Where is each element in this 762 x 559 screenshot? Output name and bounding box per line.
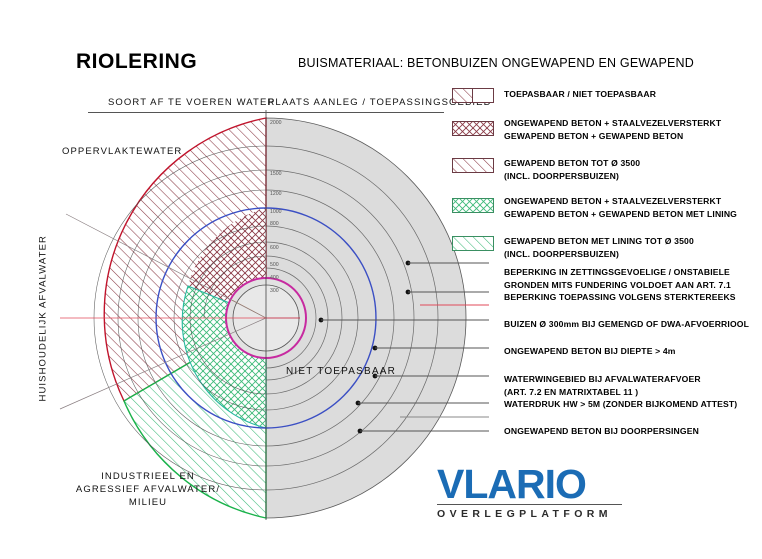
legend-entry-toepasbaar: TOEPASBAAR / NIET TOEPASBAAR (452, 88, 757, 110)
page-title: RIOLERING (76, 50, 197, 74)
page-subtitle: BUISMATERIAAL: BETONBUIZEN ONGEWAPEND EN… (298, 56, 694, 70)
legend-swatch-cross-maroon (452, 121, 494, 136)
legend-entry-strength-series: BEPERKING TOEPASSING VOLGENS STERKTEREEK… (452, 291, 757, 304)
legend-entry-water-catchment: WATERWINGEBIED BIJ AFVALWATERAFVOER (ART… (452, 373, 757, 398)
label-domestic-wastewater: HUISHOUDELIJK AFVALWATER (37, 272, 50, 402)
legend-text: (INCL. DOORPERSBUIZEN) (504, 248, 757, 261)
svg-text:1000: 1000 (270, 209, 282, 215)
vlario-logo: VLARIO OVERLEGPLATFORM (437, 462, 627, 520)
legend-text: ONGEWAPEND BETON + STAALVEZELVERSTERKT (504, 117, 757, 130)
legend-text: WATERDRUK HW > 5M (ZONDER BIJKOMEND ATTE… (504, 398, 757, 411)
legend-swatch-diagonal-maroon (452, 158, 494, 173)
legend-entry-unreinforced-steelfibre: ONGEWAPEND BETON + STAALVEZELVERSTERKT G… (452, 117, 757, 149)
label-industrial-line3: MILIEU (58, 496, 238, 509)
legend-entry-jacking-pipes: ONGEWAPEND BETON BIJ DOORPERSINGEN (452, 425, 757, 438)
legend-text: GEWAPEND BETON TOT Ø 3500 (504, 157, 757, 170)
legend-text: (ART. 7.2 EN MATRIXTABEL 11 ) (504, 386, 757, 399)
legend-text: BUIZEN Ø 300mm BIJ GEMENGD OF DWA-AFVOER… (504, 318, 757, 331)
label-surface-water: OPPERVLAKTEWATER (62, 145, 182, 158)
legend-text: TOEPASBAAR / NIET TOEPASBAAR (504, 88, 757, 101)
legend-entry-reinforced-lining-3500: GEWAPEND BETON MET LINING TOT Ø 3500 (IN… (452, 235, 757, 265)
label-industrial-wastewater: INDUSTRIEEL EN AGRESSIEF AFVALWATER/ MIL… (58, 470, 238, 509)
svg-text:2000: 2000 (270, 120, 282, 126)
svg-text:500: 500 (270, 262, 279, 268)
legend-text: ONGEWAPEND BETON BIJ DIEPTE > 4m (504, 345, 757, 358)
legend-entry-water-pressure: WATERDRUK HW > 5M (ZONDER BIJKOMEND ATTE… (452, 398, 757, 411)
svg-text:1200: 1200 (270, 191, 282, 197)
legend-entry-depth-4m: ONGEWAPEND BETON BIJ DIEPTE > 4m (452, 345, 757, 358)
column-header-strip: SOORT AF TE VOEREN WATER PLAATS AANLEG /… (88, 97, 444, 117)
svg-text:1500: 1500 (270, 171, 282, 177)
logo-wordmark: VLARIO (437, 462, 627, 506)
label-industrial-line1: INDUSTRIEEL EN (58, 470, 238, 483)
legend-text: ONGEWAPEND BETON + STAALVEZELVERSTERKT (504, 195, 757, 208)
legend-entry-pipes-300mm: BUIZEN Ø 300mm BIJ GEMENGD OF DWA-AFVOER… (452, 318, 757, 331)
legend-swatch-cross-green (452, 198, 494, 213)
legend-text: GRONDEN MITS FUNDERING VOLDOET AAN ART. … (504, 279, 757, 292)
legend-text: GEWAPEND BETON + GEWAPEND BETON (504, 130, 757, 143)
legend-text: (INCL. DOORPERSBUIZEN) (504, 170, 757, 183)
legend-entry-unreinforced-lining: ONGEWAPEND BETON + STAALVEZELVERSTERKT G… (452, 195, 757, 227)
svg-text:300: 300 (270, 288, 279, 294)
svg-text:400: 400 (270, 275, 279, 281)
legend-swatch-diagonal-green (452, 236, 494, 251)
legend-swatch-half-hatched (452, 88, 494, 103)
column-header-left: SOORT AF TE VOEREN WATER (108, 97, 275, 108)
legend-text: WATERWINGEBIED BIJ AFVALWATERAFVOER (504, 373, 757, 386)
legend-entry-reinforced-3500: GEWAPEND BETON TOT Ø 3500 (INCL. DOORPER… (452, 157, 757, 189)
logo-tagline: OVERLEGPLATFORM (437, 508, 627, 520)
legend-text: GEWAPEND BETON MET LINING TOT Ø 3500 (504, 235, 757, 248)
legend-entry-settlement-limit: BEPERKING IN ZETTINGSGEVOELIGE / ONSTABI… (452, 266, 757, 291)
legend-text: GEWAPEND BETON + GEWAPEND BETON MET LINI… (504, 208, 757, 221)
legend-text: BEPERKING IN ZETTINGSGEVOELIGE / ONSTABI… (504, 266, 757, 279)
label-not-applicable: NIET TOEPASBAAR (286, 366, 396, 377)
legend-text: ONGEWAPEND BETON BIJ DOORPERSINGEN (504, 425, 757, 438)
column-header-rule (88, 112, 444, 113)
diagram-page: 2000 1500 1200 1000 800 600 500 400 300 (0, 0, 762, 559)
label-industrial-line2: AGRESSIEF AFVALWATER/ (58, 483, 238, 496)
svg-text:800: 800 (270, 221, 279, 227)
svg-text:600: 600 (270, 245, 279, 251)
legend: TOEPASBAAR / NIET TOEPASBAAR ONGEWAPEND … (452, 88, 757, 437)
legend-text: BEPERKING TOEPASSING VOLGENS STERKTEREEK… (504, 291, 757, 304)
